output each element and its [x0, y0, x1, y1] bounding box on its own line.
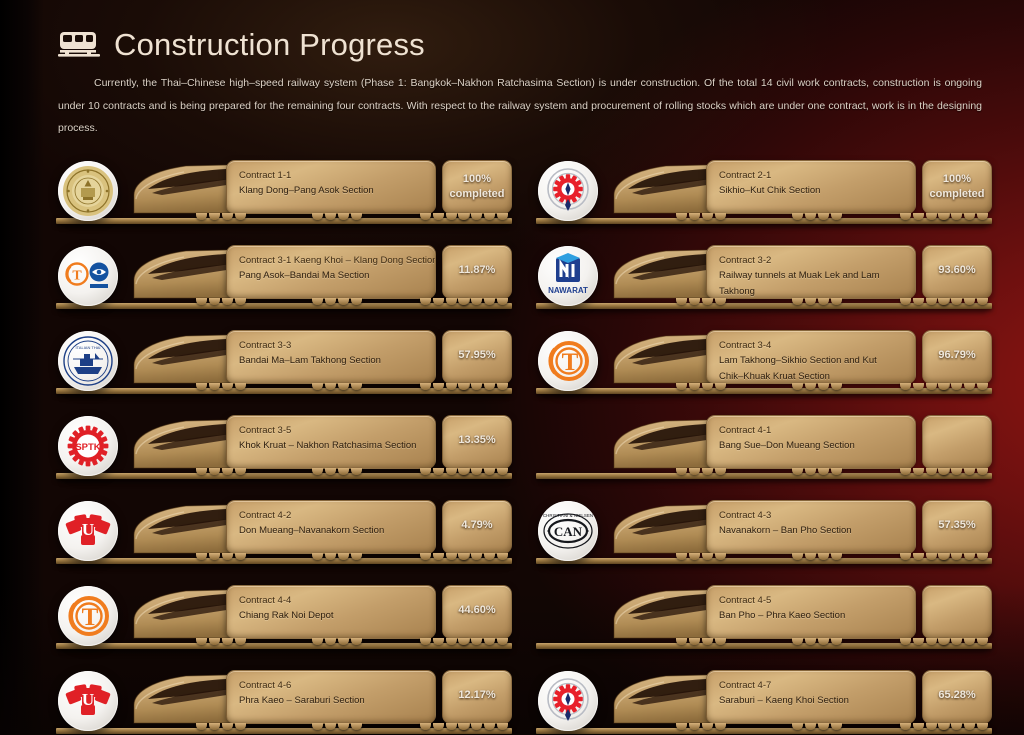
bogie-front	[676, 298, 726, 305]
contract-row-contract-1-1[interactable]: Contract 1-1 Klang Dong–Pang Asok Sectio…	[44, 148, 516, 233]
progress-car[interactable]: 57.35%	[922, 500, 992, 554]
wheel	[831, 213, 842, 220]
svg-text:T: T	[72, 268, 82, 283]
rail-shadow	[542, 480, 986, 485]
contract-section-name: Khok Kruat – Nakhon Ratchasima Section	[239, 438, 423, 454]
wheel	[235, 553, 246, 560]
bogie-mid-front	[312, 553, 362, 560]
rail-shadow	[542, 650, 986, 655]
progress-percent: 12.17%	[458, 689, 495, 702]
wheel	[951, 723, 962, 730]
wheel	[792, 383, 803, 390]
wheel	[818, 723, 829, 730]
wheel	[325, 298, 336, 305]
contract-section-name: Klang Dong–Pang Asok Section	[239, 183, 423, 199]
wheel	[235, 468, 246, 475]
svg-text:CHRISTIANI & NIELSEN: CHRISTIANI & NIELSEN	[543, 513, 593, 518]
wheel	[351, 638, 362, 645]
wheel	[235, 723, 246, 730]
bogie-rear	[458, 553, 508, 560]
contract-row-contract-4-3[interactable]: Contract 4-3 Navanakorn – Ban Pho Sectio…	[524, 488, 996, 573]
wheel	[715, 638, 726, 645]
bogie-mid-front	[312, 723, 362, 730]
wheel	[938, 213, 949, 220]
bogie-front	[676, 213, 726, 220]
wheel	[458, 553, 469, 560]
bogie-mid-front	[792, 298, 842, 305]
train-graphic: Contract 4-1 Bang Sue–Don Mueang Section	[524, 409, 996, 475]
wheel	[792, 723, 803, 730]
wheel	[484, 553, 495, 560]
wheel	[913, 298, 924, 305]
contract-info-car[interactable]: Contract 3-2 Railway tunnels at Muak Lek…	[706, 245, 916, 299]
contract-info-car[interactable]: Contract 3-3 Bandai Ma–Lam Takhong Secti…	[226, 330, 436, 384]
progress-car[interactable]: 100% completed	[922, 160, 992, 214]
wheel	[831, 383, 842, 390]
bogie-front	[196, 213, 246, 220]
page-header: Construction Progress	[44, 28, 990, 60]
contract-id: Contract 3-2	[719, 254, 903, 269]
wheel	[497, 213, 508, 220]
wheel	[831, 298, 842, 305]
wheel	[805, 383, 816, 390]
contract-id: Contract 3-4	[719, 339, 903, 354]
wheel	[351, 298, 362, 305]
wheel	[497, 723, 508, 730]
wheel	[977, 213, 988, 220]
bogie-rear	[458, 638, 508, 645]
bogie-rear	[458, 723, 508, 730]
wheel	[338, 383, 349, 390]
bogie-front	[196, 298, 246, 305]
wheel	[805, 723, 816, 730]
train-icon	[58, 28, 100, 60]
contract-info-car[interactable]: Contract 4-6 Phra Kaeo – Saraburi Sectio…	[226, 670, 436, 724]
wheel	[792, 638, 803, 645]
progress-car[interactable]: 100% completed	[442, 160, 512, 214]
progress-car[interactable]	[922, 415, 992, 469]
wheel	[900, 468, 911, 475]
wheel	[497, 638, 508, 645]
wheel	[689, 213, 700, 220]
contract-info-car[interactable]: Contract 4-4 Chiang Rak Noi Depot	[226, 585, 436, 639]
contract-info-car[interactable]: Contract 2-1 Sikhio–Kut Chik Section	[706, 160, 916, 214]
wheel	[325, 468, 336, 475]
bogie-mid-front	[312, 298, 362, 305]
contractor-logo-it-orange-icon[interactable]: T	[58, 586, 118, 646]
wheel	[689, 638, 700, 645]
wheel	[446, 638, 457, 645]
wheel	[312, 723, 323, 730]
contract-info-car[interactable]: Contract 4-7 Saraburi – Kaeng Khoi Secti…	[706, 670, 916, 724]
wheel	[977, 553, 988, 560]
wheel	[676, 723, 687, 730]
wheel	[702, 298, 713, 305]
wheel	[325, 553, 336, 560]
contractor-logo-it-crcc-dual-icon[interactable]: T	[58, 246, 118, 306]
wheel	[420, 213, 431, 220]
wheel	[938, 638, 949, 645]
contract-row-contract-4-2[interactable]: Contract 4-2 Don Mueang–Navanakorn Secti…	[44, 488, 516, 573]
wheel	[792, 553, 803, 560]
contractor-logo-sptk-gear-icon[interactable]: SPTK	[58, 416, 118, 476]
bogie-mid-front	[792, 213, 842, 220]
page-title: Construction Progress	[114, 29, 425, 60]
contract-info-car[interactable]: Contract 4-2 Don Mueang–Navanakorn Secti…	[226, 500, 436, 554]
wheel	[676, 213, 687, 220]
progress-status-label: completed	[929, 188, 984, 201]
progress-car[interactable]: 11.87%	[442, 245, 512, 299]
contract-id: Contract 4-5	[719, 594, 903, 609]
wheel	[420, 638, 431, 645]
rail-shadow	[62, 310, 506, 315]
contract-row-contract-2-1[interactable]: Contract 2-1 Sikhio–Kut Chik Section 100…	[524, 148, 996, 233]
wheel	[702, 383, 713, 390]
wheel	[676, 298, 687, 305]
wheel	[338, 298, 349, 305]
contract-id: Contract 3-5	[239, 424, 423, 439]
progress-percent: 57.35%	[938, 519, 975, 532]
bogie-front	[676, 723, 726, 730]
contractor-logo-nawarat-icon[interactable]: NAWARAT	[538, 246, 598, 306]
bogie-front	[196, 468, 246, 475]
rail-shadow	[542, 395, 986, 400]
wheel	[977, 723, 988, 730]
wheel	[818, 213, 829, 220]
wheel	[351, 468, 362, 475]
contract-id: Contract 3-1 Kaeng Khoi – Klang Dong Sec…	[239, 254, 423, 269]
wheel	[222, 213, 233, 220]
wheel	[951, 383, 962, 390]
contract-section-name: Bang Sue–Don Mueang Section	[719, 438, 903, 454]
bogie-front	[676, 638, 726, 645]
contractor-logo-red-gear-emblem-icon[interactable]	[538, 671, 598, 731]
wheel	[818, 468, 829, 475]
train-graphic: Contract 4-5 Ban Pho – Phra Kaeo Section	[524, 579, 996, 645]
wheel	[900, 723, 911, 730]
wheel	[497, 383, 508, 390]
progress-car[interactable]: 65.28%	[922, 670, 992, 724]
contract-section-name: Don Mueang–Navanakorn Section	[239, 523, 423, 539]
wheel	[196, 723, 207, 730]
wheel	[484, 298, 495, 305]
wheel	[235, 383, 246, 390]
svg-text:U: U	[82, 690, 94, 709]
contract-info-car[interactable]: Contract 4-3 Navanakorn – Ban Pho Sectio…	[706, 500, 916, 554]
wheel	[312, 213, 323, 220]
wheel	[312, 383, 323, 390]
wheel	[433, 553, 444, 560]
wheel	[964, 468, 975, 475]
wheel	[964, 383, 975, 390]
wheel	[702, 638, 713, 645]
wheel	[926, 468, 937, 475]
wheel	[938, 468, 949, 475]
bogie-mid-front	[792, 553, 842, 560]
wheel	[715, 468, 726, 475]
bogie-rear	[938, 468, 988, 475]
contract-row-contract-4-1[interactable]: Contract 4-1 Bang Sue–Don Mueang Section	[524, 403, 996, 488]
wheel	[433, 383, 444, 390]
wheel	[222, 298, 233, 305]
progress-car[interactable]: 13.35%	[442, 415, 512, 469]
contractor-logo-can-oval-icon[interactable]: CAN CHRISTIANI & NIELSEN	[538, 501, 598, 561]
progress-car[interactable]: 96.79%	[922, 330, 992, 384]
wheel	[471, 298, 482, 305]
bogie-front	[676, 553, 726, 560]
wheel	[977, 468, 988, 475]
wheel	[209, 298, 220, 305]
wheel	[831, 553, 842, 560]
wheel	[484, 468, 495, 475]
wheel	[458, 383, 469, 390]
contract-row-contract-3-2[interactable]: Contract 3-2 Railway tunnels at Muak Lek…	[524, 233, 996, 318]
progress-car[interactable]: 44.60%	[442, 585, 512, 639]
rail-shadow	[542, 225, 986, 230]
contractor-logo-it-orange-icon[interactable]: T	[538, 331, 598, 391]
progress-percent: 100%	[463, 173, 491, 186]
progress-car[interactable]: 93.60%	[922, 245, 992, 299]
wheel	[338, 723, 349, 730]
wheel	[676, 638, 687, 645]
wheel	[831, 638, 842, 645]
contract-row-contract-4-7[interactable]: Contract 4-7 Saraburi – Kaeng Khoi Secti…	[524, 658, 996, 735]
wheel	[471, 723, 482, 730]
wheel	[964, 213, 975, 220]
intro-paragraph: Currently, the Thai–Chinese high–speed r…	[58, 72, 982, 140]
rail-shadow	[62, 480, 506, 485]
wheel	[497, 298, 508, 305]
wheel	[497, 553, 508, 560]
wheel	[312, 468, 323, 475]
contract-info-car[interactable]: Contract 4-1 Bang Sue–Don Mueang Section	[706, 415, 916, 469]
wheel	[209, 383, 220, 390]
wheel	[792, 213, 803, 220]
wheel	[484, 213, 495, 220]
bogie-mid-front	[312, 638, 362, 645]
bogie-rear	[458, 383, 508, 390]
contract-id: Contract 3-3	[239, 339, 423, 354]
wheel	[196, 638, 207, 645]
contract-section-name: Lam Takhong–Sikhio Section and Kut Chik–…	[719, 353, 903, 383]
wheel	[471, 553, 482, 560]
wheel	[938, 553, 949, 560]
wheel	[351, 213, 362, 220]
wheel	[471, 383, 482, 390]
wheel	[900, 298, 911, 305]
wheel	[676, 468, 687, 475]
wheel	[338, 213, 349, 220]
progress-car[interactable]	[922, 585, 992, 639]
wheel	[446, 723, 457, 730]
progress-status-label: completed	[449, 188, 504, 201]
wheel	[900, 213, 911, 220]
contract-info-car[interactable]: Contract 3-4 Lam Takhong–Sikhio Section …	[706, 330, 916, 384]
progress-percent: 11.87%	[459, 264, 496, 277]
wheel	[222, 468, 233, 475]
bogie-mid-front	[312, 383, 362, 390]
contract-row-contract-4-6[interactable]: Contract 4-6 Phra Kaeo – Saraburi Sectio…	[44, 658, 516, 735]
wheel	[484, 383, 495, 390]
wheel	[312, 638, 323, 645]
contractor-logo-royal-seal-icon[interactable]	[58, 161, 118, 221]
wheel	[715, 723, 726, 730]
progress-car[interactable]: 12.17%	[442, 670, 512, 724]
svg-text:NAWARAT: NAWARAT	[548, 286, 588, 295]
bogie-mid-front	[792, 383, 842, 390]
rail-shadow	[62, 225, 506, 230]
contract-id: Contract 2-1	[719, 169, 903, 184]
wheel	[433, 723, 444, 730]
contract-row-contract-4-4[interactable]: Contract 4-4 Chiang Rak Noi Depot 44.60%	[44, 573, 516, 658]
contract-id: Contract 4-7	[719, 679, 903, 694]
contract-section-name: Railway tunnels at Muak Lek and Lam Takh…	[719, 268, 903, 298]
wheel	[689, 723, 700, 730]
contract-info-car[interactable]: Contract 3-5 Khok Kruat – Nakhon Ratchas…	[226, 415, 436, 469]
bogie-rear	[938, 383, 988, 390]
progress-percent: 57.95%	[458, 349, 495, 362]
contract-section-name: Saraburi – Kaeng Khoi Section	[719, 693, 903, 709]
wheel	[951, 213, 962, 220]
wheel	[338, 553, 349, 560]
wheel	[792, 298, 803, 305]
bogie-rear	[938, 213, 988, 220]
bogie-rear	[938, 638, 988, 645]
contract-id: Contract 4-4	[239, 594, 423, 609]
contract-row-contract-3-1-kaeng-khoi-klang-dong-section-and[interactable]: Contract 3-1 Kaeng Khoi – Klang Dong Sec…	[44, 233, 516, 318]
wheel	[222, 723, 233, 730]
wheel	[196, 383, 207, 390]
contract-section-name: Ban Pho – Phra Kaeo Section	[719, 608, 903, 624]
svg-text:T: T	[82, 604, 99, 631]
wheel	[420, 383, 431, 390]
wheel	[702, 468, 713, 475]
wheel	[926, 213, 937, 220]
wheel	[951, 468, 962, 475]
wheel	[312, 553, 323, 560]
contract-id: Contract 4-1	[719, 424, 903, 439]
wheel	[702, 553, 713, 560]
bogie-front	[196, 723, 246, 730]
wheel	[805, 553, 816, 560]
wheel	[446, 213, 457, 220]
wheel	[209, 468, 220, 475]
page-content: Construction Progress Currently, the Tha…	[0, 0, 1024, 735]
wheel	[831, 723, 842, 730]
wheel	[420, 298, 431, 305]
wheel	[196, 213, 207, 220]
contractor-logo-unique-red-icon[interactable]: U	[58, 671, 118, 731]
contract-section-name: Phra Kaeo – Saraburi Section	[239, 693, 423, 709]
wheel	[900, 383, 911, 390]
contractor-logo-unique-red-icon[interactable]: U	[58, 501, 118, 561]
wheel	[420, 468, 431, 475]
contract-row-contract-4-5[interactable]: Contract 4-5 Ban Pho – Phra Kaeo Section	[524, 573, 996, 658]
wheel	[977, 298, 988, 305]
progress-car[interactable]: 4.79%	[442, 500, 512, 554]
bogie-front	[676, 468, 726, 475]
contract-id: Contract 4-6	[239, 679, 423, 694]
wheel	[458, 298, 469, 305]
contract-row-contract-3-3[interactable]: Contract 3-3 Bandai Ma–Lam Takhong Secti…	[44, 318, 516, 403]
wheel	[351, 723, 362, 730]
contract-section-name: Bandai Ma–Lam Takhong Section	[239, 353, 423, 369]
wheel	[458, 213, 469, 220]
contract-id: Contract 4-2	[239, 509, 423, 524]
rail-shadow	[542, 310, 986, 315]
contract-section-name: Sikhio–Kut Chik Section	[719, 183, 903, 199]
wheel	[926, 298, 937, 305]
wheel	[222, 638, 233, 645]
wheel	[420, 723, 431, 730]
contractor-logo-blue-ship-seal-icon[interactable]: ITALIAN THAI	[58, 331, 118, 391]
wheel	[926, 553, 937, 560]
wheel	[235, 213, 246, 220]
contractor-logo-red-gear-emblem-icon[interactable]	[538, 161, 598, 221]
wheel	[938, 383, 949, 390]
svg-text:ITALIAN THAI: ITALIAN THAI	[76, 345, 101, 350]
wheel	[938, 298, 949, 305]
wheel	[446, 553, 457, 560]
wheel	[676, 383, 687, 390]
bogie-mid-front	[312, 468, 362, 475]
wheel	[196, 553, 207, 560]
wheel	[676, 553, 687, 560]
wheel	[702, 723, 713, 730]
wheel	[913, 468, 924, 475]
svg-text:SPTK: SPTK	[75, 442, 100, 453]
wheel	[818, 298, 829, 305]
contract-info-car[interactable]: Contract 4-5 Ban Pho – Phra Kaeo Section	[706, 585, 916, 639]
bogie-rear	[938, 298, 988, 305]
wheel	[951, 298, 962, 305]
bogie-rear	[458, 213, 508, 220]
contract-row-contract-3-4[interactable]: Contract 3-4 Lam Takhong–Sikhio Section …	[524, 318, 996, 403]
wheel	[209, 638, 220, 645]
contract-row-contract-3-5[interactable]: Contract 3-5 Khok Kruat – Nakhon Ratchas…	[44, 403, 516, 488]
wheel	[792, 468, 803, 475]
bogie-rear	[458, 468, 508, 475]
wheel	[325, 723, 336, 730]
bogie-rear	[458, 298, 508, 305]
wheel	[715, 383, 726, 390]
contract-info-car[interactable]: Contract 3-1 Kaeng Khoi – Klang Dong Sec…	[226, 245, 436, 299]
contract-info-car[interactable]: Contract 1-1 Klang Dong–Pang Asok Sectio…	[226, 160, 436, 214]
wheel	[977, 383, 988, 390]
wheel	[446, 298, 457, 305]
wheel	[338, 638, 349, 645]
wheel	[446, 468, 457, 475]
wheel	[818, 638, 829, 645]
wheel	[222, 553, 233, 560]
progress-car[interactable]: 57.95%	[442, 330, 512, 384]
wheel	[715, 553, 726, 560]
wheel	[458, 723, 469, 730]
wheel	[312, 298, 323, 305]
bogie-mid-front	[792, 638, 842, 645]
wheel	[938, 723, 949, 730]
wheel	[689, 553, 700, 560]
wheel	[325, 213, 336, 220]
wheel	[235, 298, 246, 305]
wheel	[805, 213, 816, 220]
wheel	[913, 553, 924, 560]
wheel	[433, 638, 444, 645]
wheel	[913, 638, 924, 645]
wheel	[926, 723, 937, 730]
wheel	[818, 553, 829, 560]
wheel	[926, 638, 937, 645]
